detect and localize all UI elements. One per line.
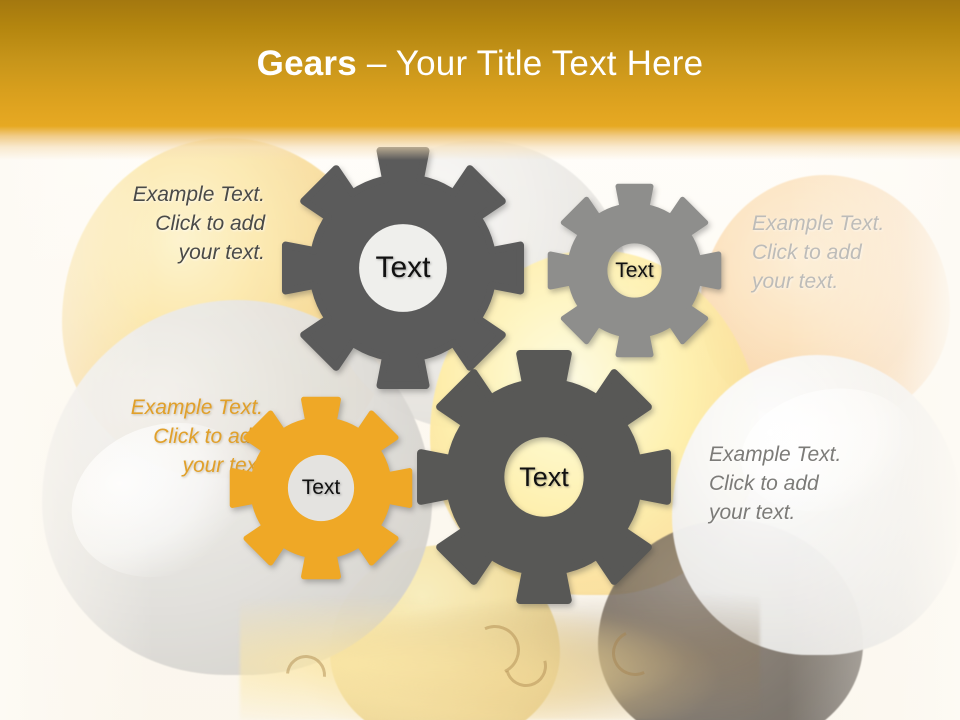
page-title: Gears – Your Title Text Here [0, 43, 960, 85]
page-title-rest: – Your Title Text Here [357, 44, 703, 83]
gear-hub [288, 455, 354, 521]
gear-body-icon [550, 186, 718, 354]
gear-small-orange[interactable]: Text [229, 396, 413, 580]
page-title-strong: Gears [257, 44, 357, 83]
gear-hub [359, 224, 447, 312]
gear-body-icon [421, 354, 667, 600]
text-placeholder-top-right[interactable]: Example Text. Click to add your text. [752, 209, 952, 296]
gear-medium-dark[interactable]: Text [416, 349, 672, 605]
title-bar-fade [0, 126, 960, 160]
slide-canvas: Gears – Your Title Text Here Example Tex… [0, 0, 960, 720]
gear-body-icon [232, 399, 409, 576]
gear-small-grey[interactable]: Text [547, 183, 722, 358]
text-placeholder-bottom-right[interactable]: Example Text. Click to add your text. [709, 440, 924, 527]
text-placeholder-top-left[interactable]: Example Text. Click to add your text. [60, 180, 265, 267]
